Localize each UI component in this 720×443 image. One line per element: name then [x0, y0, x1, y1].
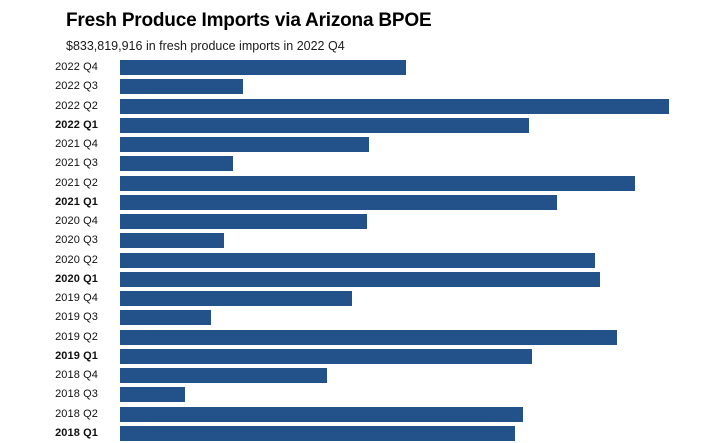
- bar-track: [108, 154, 720, 173]
- bar-track: [108, 328, 720, 347]
- bar-category-label: 2018 Q3: [0, 388, 108, 401]
- chart-container: Fresh Produce Imports via Arizona BPOE $…: [0, 0, 720, 443]
- bar-track: [108, 308, 720, 327]
- bar: [120, 349, 532, 364]
- chart-subtitle: $833,819,916 in fresh produce imports in…: [66, 32, 720, 54]
- bar: [120, 253, 595, 268]
- bar: [120, 118, 529, 133]
- bar-row: 2022 Q4: [0, 58, 720, 77]
- bar-track: [108, 405, 720, 424]
- bar: [120, 426, 515, 441]
- bar-row: 2022 Q3: [0, 77, 720, 96]
- bar-category-label: 2019 Q4: [0, 292, 108, 305]
- bar-category-label: 2021 Q3: [0, 157, 108, 170]
- bar-track: [108, 212, 720, 231]
- bar-row: 2022 Q1: [0, 116, 720, 135]
- bar-track: [108, 193, 720, 212]
- bar: [120, 214, 367, 229]
- bar-row: 2021 Q4: [0, 135, 720, 154]
- bar: [120, 156, 233, 171]
- bar: [120, 330, 617, 345]
- bar: [120, 407, 523, 422]
- bar-category-label: 2022 Q3: [0, 80, 108, 93]
- bar-track: [108, 424, 720, 443]
- bar-category-label: 2019 Q2: [0, 331, 108, 344]
- bar-category-label: 2018 Q4: [0, 369, 108, 382]
- bar-category-label: 2020 Q1: [0, 273, 108, 286]
- bar-row: 2021 Q1: [0, 193, 720, 212]
- bar-category-label: 2021 Q2: [0, 177, 108, 190]
- bar-category-label: 2020 Q2: [0, 254, 108, 267]
- bar-track: [108, 174, 720, 193]
- bar: [120, 233, 224, 248]
- bar-chart-plot-area: 2022 Q42022 Q32022 Q22022 Q12021 Q42021 …: [0, 58, 720, 443]
- bar: [120, 387, 185, 402]
- bar-row: 2018 Q3: [0, 385, 720, 404]
- bar-track: [108, 231, 720, 250]
- bar-category-label: 2020 Q3: [0, 234, 108, 247]
- bar: [120, 195, 557, 210]
- bar-category-label: 2022 Q1: [0, 119, 108, 132]
- bar-row: 2021 Q2: [0, 174, 720, 193]
- bar: [120, 99, 669, 114]
- chart-header: Fresh Produce Imports via Arizona BPOE $…: [0, 0, 720, 54]
- bar-track: [108, 97, 720, 116]
- bar: [120, 310, 211, 325]
- bar-row: 2019 Q4: [0, 289, 720, 308]
- bar: [120, 176, 635, 191]
- bar-row: 2020 Q2: [0, 251, 720, 270]
- bar-row: 2020 Q4: [0, 212, 720, 231]
- bar-track: [108, 58, 720, 77]
- bar: [120, 368, 327, 383]
- bar-row: 2022 Q2: [0, 97, 720, 116]
- bar: [120, 60, 406, 75]
- bar-row: 2019 Q3: [0, 308, 720, 327]
- bar-row: 2020 Q1: [0, 270, 720, 289]
- bar-category-label: 2022 Q4: [0, 61, 108, 74]
- bar-track: [108, 77, 720, 96]
- bar-category-label: 2022 Q2: [0, 100, 108, 113]
- bar-row: 2018 Q2: [0, 405, 720, 424]
- bar-category-label: 2019 Q3: [0, 311, 108, 324]
- bar: [120, 272, 600, 287]
- bar-category-label: 2021 Q4: [0, 138, 108, 151]
- bar-track: [108, 385, 720, 404]
- bar-category-label: 2020 Q4: [0, 215, 108, 228]
- bar-track: [108, 251, 720, 270]
- bar-track: [108, 289, 720, 308]
- bar: [120, 79, 243, 94]
- bar-category-label: 2021 Q1: [0, 196, 108, 209]
- bar-track: [108, 347, 720, 366]
- page-title: Fresh Produce Imports via Arizona BPOE: [66, 0, 720, 32]
- bar-track: [108, 135, 720, 154]
- bar-track: [108, 270, 720, 289]
- bar-row: 2019 Q1: [0, 347, 720, 366]
- bar-category-label: 2018 Q2: [0, 408, 108, 421]
- bar-row: 2018 Q4: [0, 366, 720, 385]
- bar: [120, 291, 352, 306]
- bar-row: 2018 Q1: [0, 424, 720, 443]
- bar-track: [108, 366, 720, 385]
- bar-row: 2019 Q2: [0, 328, 720, 347]
- bar-category-label: 2018 Q1: [0, 427, 108, 440]
- bar-row: 2021 Q3: [0, 154, 720, 173]
- bar-row: 2020 Q3: [0, 231, 720, 250]
- bar-category-label: 2019 Q1: [0, 350, 108, 363]
- bar: [120, 137, 369, 152]
- bar-track: [108, 116, 720, 135]
